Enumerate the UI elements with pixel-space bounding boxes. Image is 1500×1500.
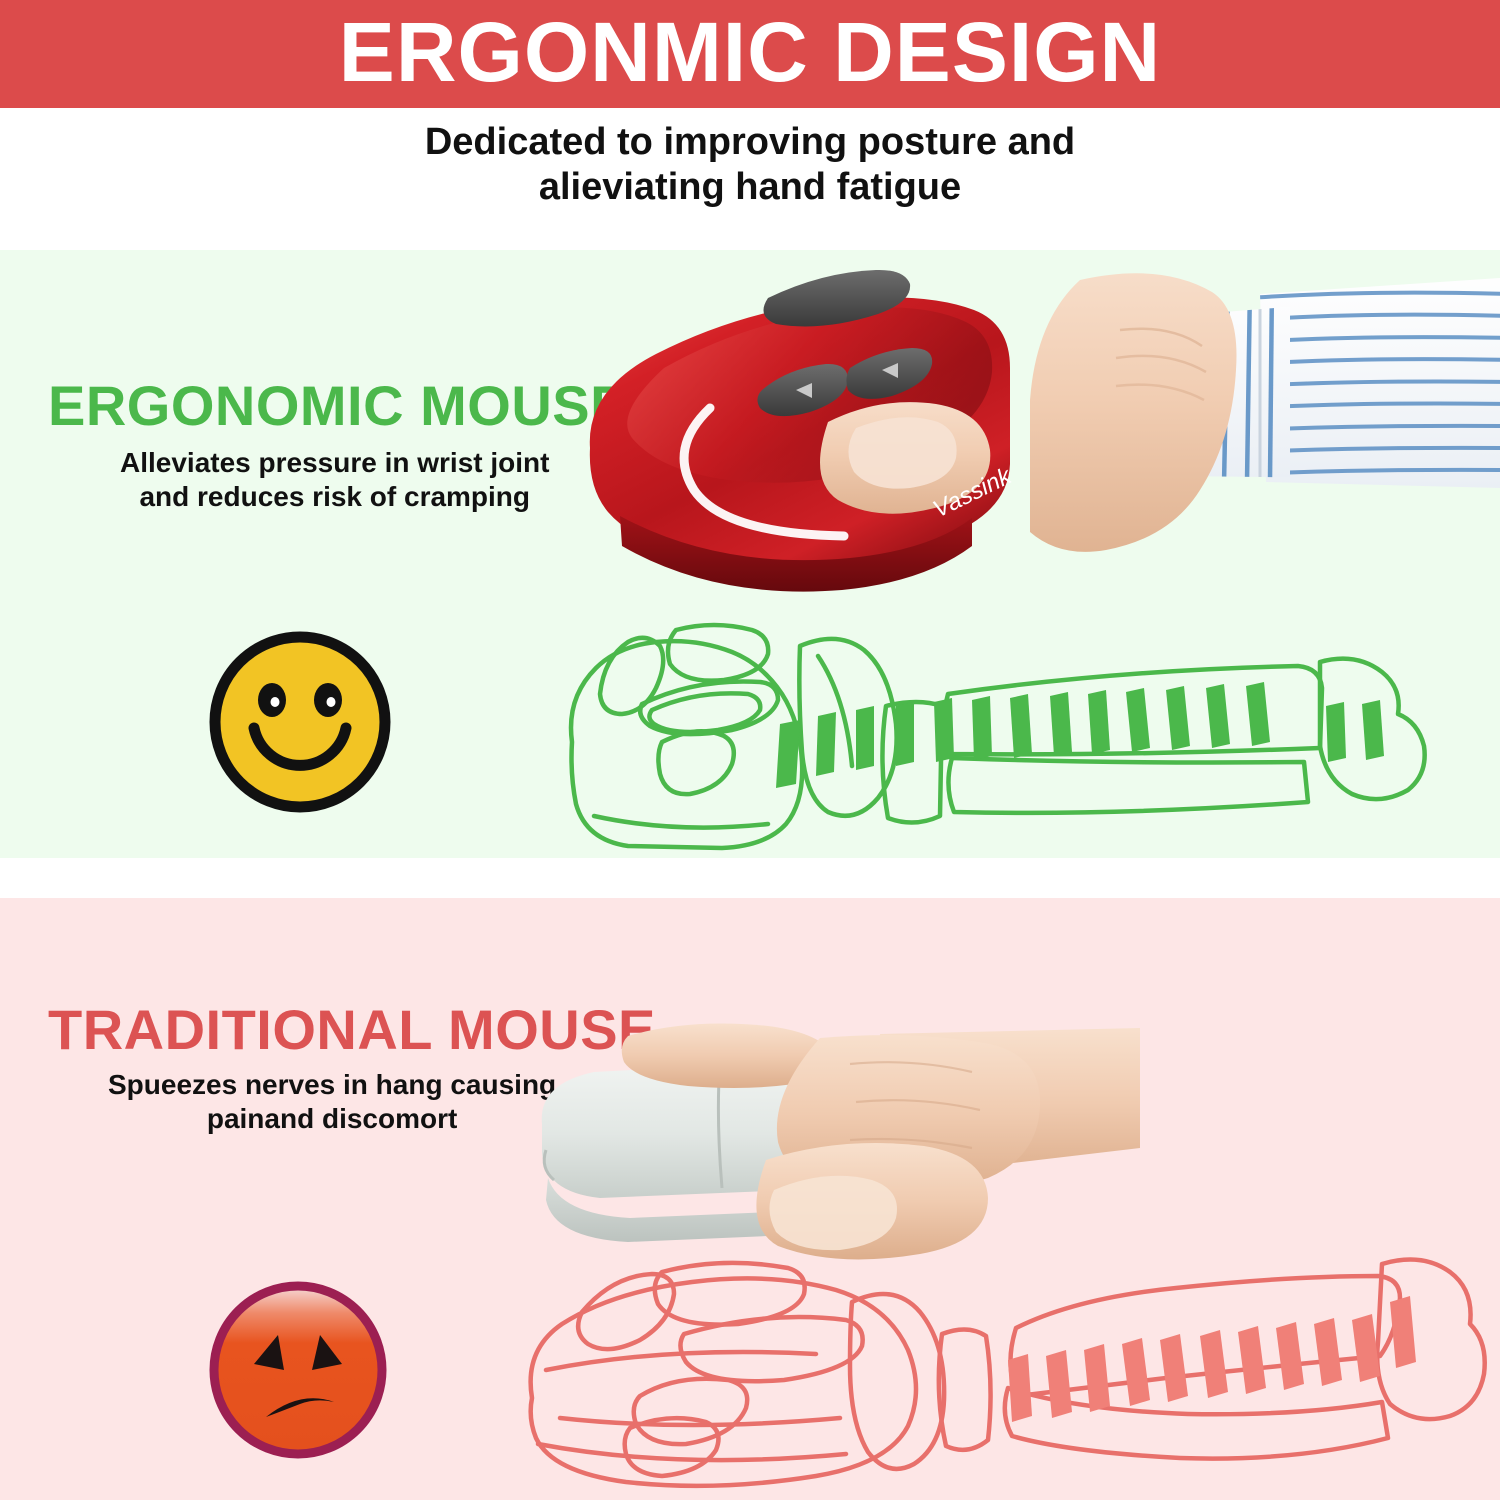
section-traditional: TRADITIONAL MOUSE Spueezes nerves in han… xyxy=(0,898,1500,1500)
section-body-traditional: Spueezes nerves in hang causing painand … xyxy=(108,1068,556,1136)
subtitle-line-1: Dedicated to improving posture and xyxy=(425,120,1075,165)
section-body-line-2: and reduces risk of cramping xyxy=(120,480,549,514)
ergonomic-mouse-photo: Vassink xyxy=(560,250,1500,610)
sad-face-icon xyxy=(208,1280,388,1460)
thumbnail xyxy=(769,1176,897,1250)
hand xyxy=(1030,273,1237,552)
header-band: ERGONMIC DESIGN xyxy=(0,0,1500,108)
section-body-ergonomic: Alleviates pressure in wrist joint and r… xyxy=(120,446,549,514)
thumbnail xyxy=(848,417,956,488)
section-heading-ergonomic: ERGONOMIC MOUSE xyxy=(48,378,628,434)
happy-face-icon xyxy=(210,632,390,812)
section-body-line-1: Alleviates pressure in wrist joint xyxy=(120,446,549,480)
neutral-wrist-skeleton-illustration xyxy=(556,602,1500,858)
subtitle-line-2: alieviating hand fatigue xyxy=(539,165,961,210)
section-body-line-1: Spueezes nerves in hang causing xyxy=(108,1068,556,1102)
subtitle: Dedicated to improving posture and aliev… xyxy=(0,112,1500,232)
section-ergonomic: ERGONOMIC MOUSE Alleviates pressure in w… xyxy=(0,250,1500,858)
section-body-line-2: painand discomort xyxy=(108,1102,556,1136)
page-title: ERGONMIC DESIGN xyxy=(339,10,1161,94)
twisted-wrist-skeleton-illustration xyxy=(516,1246,1500,1500)
